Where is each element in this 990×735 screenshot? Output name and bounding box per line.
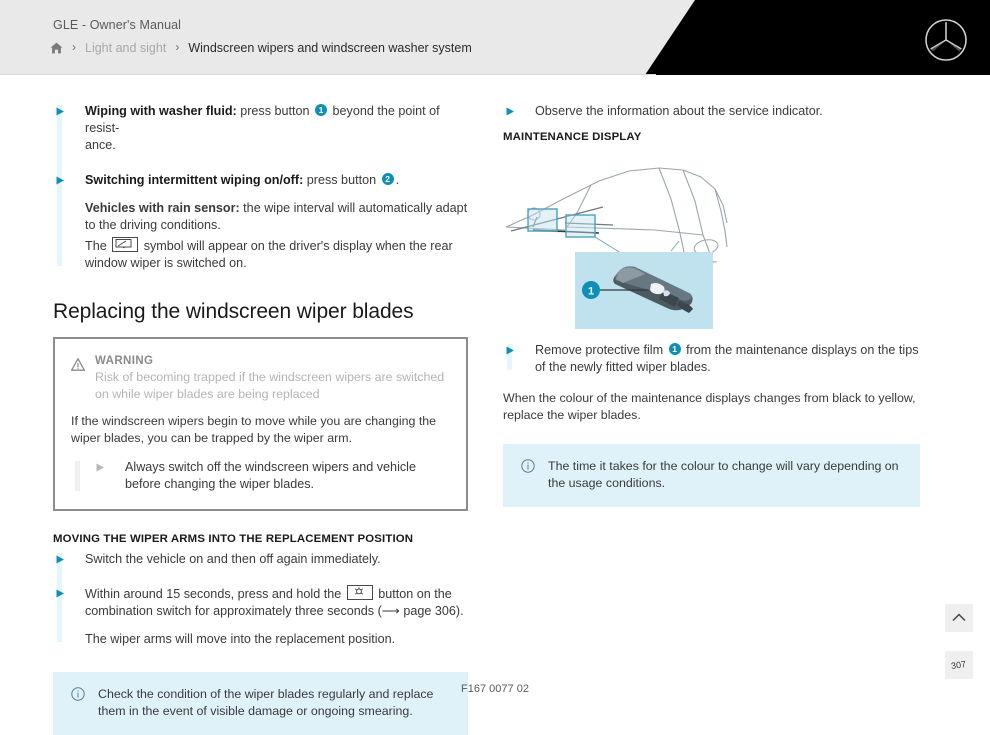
info-box-colour-change: The time it takes for the colour to chan… [503, 444, 920, 507]
page-number-button[interactable]: 307 [945, 651, 973, 679]
windscreen-washer-symbol [347, 585, 373, 600]
mercedes-star-logo[interactable] [924, 18, 968, 62]
section-heading-maintenance-display: MAINTENANCE DISPLAY [503, 131, 920, 143]
list-item-text: Wiping with washer fluid: press button 1… [85, 103, 470, 154]
triangle-bullet-icon [56, 555, 65, 564]
chevron-up-icon [952, 609, 966, 627]
list-item-lead: Switching intermittent wiping on/off: [85, 173, 303, 187]
breadcrumb: › Light and sight › Windscreen wipers an… [50, 41, 472, 55]
triangle-bullet-icon [506, 107, 515, 116]
list-item: Switching intermittent wiping on/off: pr… [53, 172, 470, 189]
remove-film-before: Remove protective film [535, 343, 667, 357]
warning-box: WARNING Risk of becoming trapped if the … [53, 337, 468, 511]
rain-sensor-lead: Vehicles with rain sensor: [85, 201, 240, 215]
triangle-bullet-icon [506, 346, 515, 355]
triangle-bullet-icon [56, 107, 65, 116]
warning-triangle-icon [71, 358, 85, 371]
warning-header: WARNING Risk of becoming trapped if the … [71, 355, 448, 403]
list-item-text: Observe the information about the servic… [535, 103, 920, 120]
left-column: Wiping with washer fluid: press button 1… [53, 75, 470, 735]
warning-accent-bar [75, 461, 80, 491]
callout-badge-2: 2 [382, 173, 394, 185]
right-column: Observe the information about the servic… [503, 75, 920, 507]
breadcrumb-separator-2: › [175, 41, 179, 53]
step-text: Within around 15 seconds, press and hold… [85, 585, 470, 620]
info-box-wiper-condition: Check the condition of the wiper blades … [53, 672, 468, 735]
info-box-text: The time it takes for the colour to chan… [548, 458, 902, 492]
triangle-bullet-icon [56, 176, 65, 185]
triangle-bullet-icon [96, 463, 105, 472]
list-item: Always switch off the windscreen wipers … [93, 459, 448, 493]
list-item: Remove protective film 1 from the mainte… [503, 342, 920, 376]
remove-film-list: Remove protective film 1 from the mainte… [503, 342, 920, 376]
step-text-before: Within around 15 seconds, press and hold… [85, 587, 345, 601]
windscreen-wiper-maintenance-display-illustration: 1 [503, 151, 920, 336]
section-heading-moving-wiper-arms: MOVING THE WIPER ARMS INTO THE REPLACEME… [53, 533, 470, 545]
step-result-note: The wiper arms will move into the replac… [53, 631, 470, 648]
page-number-label: 307 [951, 659, 967, 671]
breadcrumb-separator-1: › [72, 41, 76, 53]
rear-wiper-note-before: The [85, 239, 110, 253]
list-item-lead: Wiping with washer fluid: [85, 104, 237, 118]
svg-text:1: 1 [588, 286, 594, 298]
rear-wiper-symbol-note: The symbol will appear on the driver's d… [53, 237, 470, 272]
callout-badge-1: 1 [315, 104, 327, 116]
home-icon[interactable] [50, 42, 63, 54]
figure-id-footer: F167 0077 02 [0, 683, 990, 695]
manual-title: GLE - Owner's Manual [53, 18, 181, 32]
warning-title: WARNING [95, 355, 448, 367]
maintenance-display-paragraph: When the colour of the maintenance displ… [503, 390, 920, 424]
warning-subtitle: Risk of becoming trapped if the windscre… [95, 369, 448, 403]
steps-list: Switch the vehicle on and then off again… [53, 551, 470, 648]
triangle-bullet-icon [56, 589, 65, 598]
service-indicator-list: Observe the information about the servic… [503, 103, 920, 120]
list-item: Switch the vehicle on and then off again… [53, 551, 470, 568]
warning-action-list: Always switch off the windscreen wipers … [71, 459, 448, 493]
callout-badge-1: 1 [669, 343, 681, 355]
page-title: Replacing the windscreen wiper blades [53, 300, 470, 324]
app-header: GLE - Owner's Manual › Light and sight ›… [0, 0, 990, 75]
list-item: Within around 15 seconds, press and hold… [53, 585, 470, 620]
info-circle-icon [521, 459, 535, 473]
breadcrumb-item-current: Windscreen wipers and windscreen washer … [188, 41, 471, 55]
intro-bullet-list: Wiping with washer fluid: press button 1… [53, 103, 470, 272]
rear-window-wiper-symbol [112, 237, 138, 252]
list-item-text: Switching intermittent wiping on/off: pr… [85, 172, 470, 189]
list-item: Wiping with washer fluid: press button 1… [53, 103, 470, 154]
breadcrumb-item-light-and-sight[interactable]: Light and sight [85, 41, 166, 55]
list-item-text: Remove protective film 1 from the mainte… [535, 342, 920, 376]
warning-action-text: Always switch off the windscreen wipers … [125, 459, 448, 493]
warning-body: If the windscreen wipers begin to move w… [71, 413, 448, 447]
scroll-to-top-button[interactable] [945, 604, 973, 632]
document-page: Wiping with washer fluid: press button 1… [0, 75, 990, 700]
rear-wiper-note-after: symbol will appear on the driver's displ… [85, 239, 453, 270]
rain-sensor-note: Vehicles with rain sensor: the wipe inte… [53, 200, 470, 234]
step-text: Switch the vehicle on and then off again… [85, 551, 470, 568]
list-item: Observe the information about the servic… [503, 103, 920, 120]
